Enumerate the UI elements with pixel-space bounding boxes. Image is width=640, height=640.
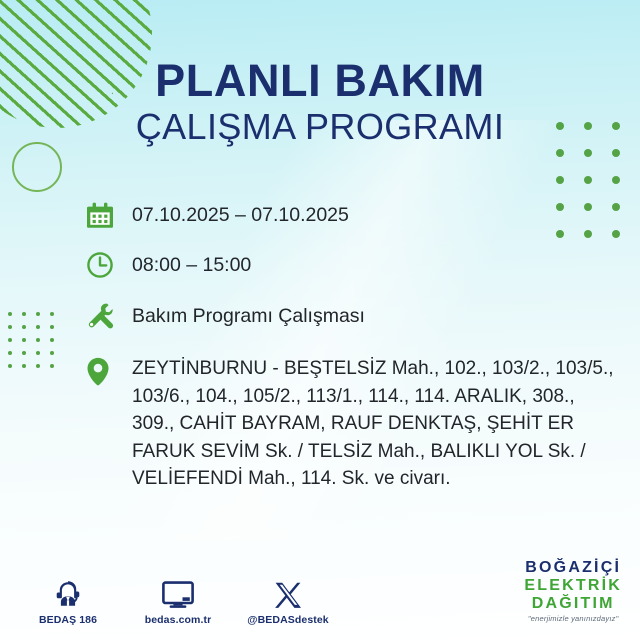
contact-website-label: bedas.com.tr <box>136 614 220 626</box>
location-value: ZEYTİNBURNU - BEŞTELSİZ Mah., 102., 103/… <box>132 354 622 493</box>
contact-social-label: @BEDASdestek <box>246 614 330 626</box>
planned-maintenance-poster: PLANLI BAKIM ÇALIŞMA PROGRAMI <box>0 0 640 640</box>
page-title: PLANLI BAKIM <box>0 58 640 104</box>
brand-line-elektrik: ELEKTRİK <box>524 578 622 594</box>
brand-line-bogazici: BOĞAZİÇİ <box>524 560 622 576</box>
clock-icon <box>86 249 132 283</box>
contact-channels: BEDAŞ 186 bedas.com.tr <box>26 577 330 626</box>
time-range-value: 08:00 – 15:00 <box>132 249 251 279</box>
work-type-value: Bakım Programı Çalışması <box>132 300 365 330</box>
contact-phone[interactable]: BEDAŞ 186 <box>26 577 110 626</box>
circle-outline-decoration <box>12 142 62 192</box>
date-range-value: 07.10.2025 – 07.10.2025 <box>132 199 349 229</box>
detail-row-time: 08:00 – 15:00 <box>86 249 622 283</box>
monitor-icon <box>136 577 220 609</box>
brand-line-dagitim: DAĞITIM <box>524 596 622 612</box>
poster-footer: BEDAŞ 186 bedas.com.tr <box>0 548 640 640</box>
map-pin-icon <box>86 354 132 388</box>
poster-title-block: PLANLI BAKIM ÇALIŞMA PROGRAMI <box>0 58 640 146</box>
contact-website[interactable]: bedas.com.tr <box>136 577 220 626</box>
contact-social[interactable]: @BEDASdestek <box>246 577 330 626</box>
detail-row-date: 07.10.2025 – 07.10.2025 <box>86 199 622 233</box>
support-agent-icon <box>26 577 110 609</box>
maintenance-details: 07.10.2025 – 07.10.2025 08:00 – 15:00 <box>86 199 622 493</box>
detail-row-work-type: Bakım Programı Çalışması <box>86 300 622 334</box>
brand-tagline: "enerjimizle yanınızdayız" <box>524 615 622 623</box>
calendar-icon <box>86 199 132 233</box>
bedas-logo: BOĞAZİÇİ ELEKTRİK DAĞITIM "enerjimizle y… <box>524 560 622 623</box>
tools-icon <box>86 300 132 334</box>
x-twitter-icon <box>246 577 330 609</box>
dot-grid-left-decoration <box>8 312 64 377</box>
page-subtitle: ÇALIŞMA PROGRAMI <box>0 108 640 146</box>
contact-phone-label: BEDAŞ 186 <box>26 614 110 626</box>
detail-row-location: ZEYTİNBURNU - BEŞTELSİZ Mah., 102., 103/… <box>86 354 622 493</box>
